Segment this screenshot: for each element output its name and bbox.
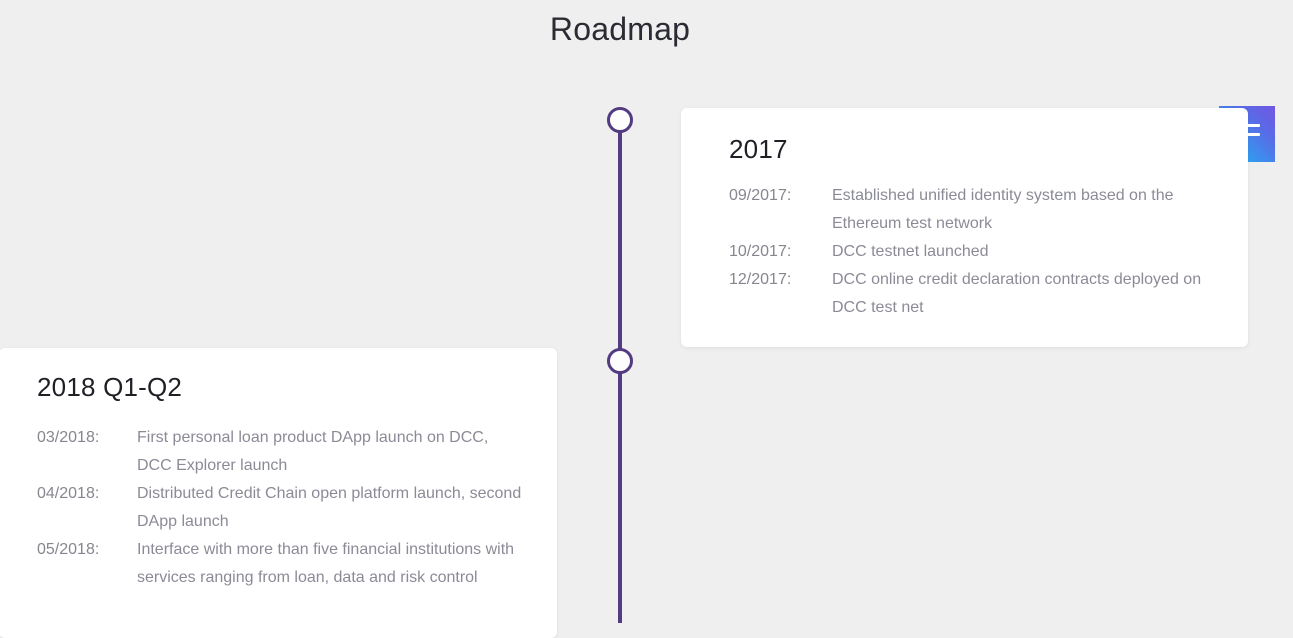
- milestone-item: 09/2017: Established unified identity sy…: [729, 182, 1216, 238]
- milestone-date: 12/2017:: [729, 266, 832, 294]
- milestone-date: 04/2018:: [37, 480, 137, 508]
- roadmap-card-title: 2017: [729, 132, 1216, 166]
- milestone-list: 09/2017: Established unified identity sy…: [729, 182, 1216, 322]
- milestone-text: First personal loan product DApp launch …: [137, 424, 525, 480]
- roadmap-card-2018-q1-q2: 2018 Q1-Q2 03/2018: First personal loan …: [0, 348, 557, 638]
- roadmap-card-title: 2018 Q1-Q2: [37, 370, 525, 404]
- milestone-list: 03/2018: First personal loan product DAp…: [37, 424, 525, 592]
- milestone-date: 05/2018:: [37, 536, 137, 564]
- milestone-text: Distributed Credit Chain open platform l…: [137, 480, 525, 536]
- milestone-text: Interface with more than five financial …: [137, 536, 525, 592]
- timeline-node-2018[interactable]: [607, 348, 633, 374]
- milestone-text: DCC online credit declaration contracts …: [832, 266, 1216, 322]
- milestone-item: 03/2018: First personal loan product DAp…: [37, 424, 525, 480]
- milestone-item: 10/2017: DCC testnet launched: [729, 238, 1216, 266]
- milestone-date: 03/2018:: [37, 424, 137, 452]
- milestone-item: 04/2018: Distributed Credit Chain open p…: [37, 480, 525, 536]
- timeline-node-2017[interactable]: [607, 107, 633, 133]
- milestone-item: 12/2017: DCC online credit declaration c…: [729, 266, 1216, 322]
- milestone-item: 05/2018: Interface with more than five f…: [37, 536, 525, 592]
- milestone-text: Established unified identity system base…: [832, 182, 1216, 238]
- milestone-date: 09/2017:: [729, 182, 832, 210]
- milestone-text: DCC testnet launched: [832, 238, 1216, 266]
- page-title: Roadmap: [0, 8, 1240, 50]
- milestone-date: 10/2017:: [729, 238, 832, 266]
- roadmap-card-2017: 2017 09/2017: Established unified identi…: [681, 108, 1248, 347]
